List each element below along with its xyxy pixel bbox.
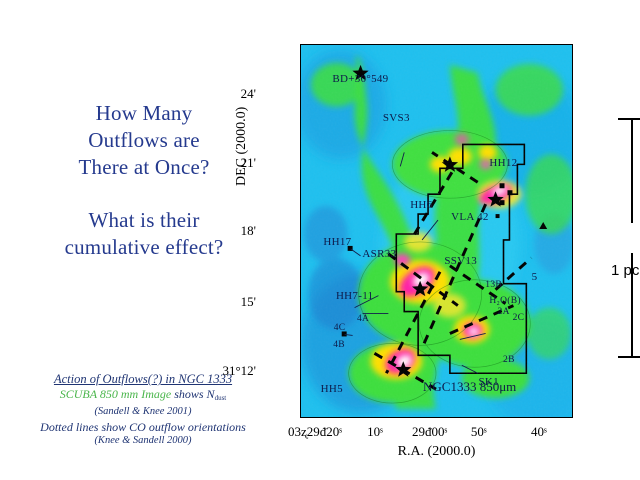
map-label-svs3: SVS3 <box>383 112 410 124</box>
ra-axis-label: R.A. (2000.0) <box>300 444 573 460</box>
map-label-asr33: ASR33 <box>362 248 396 260</box>
scale-bar-top-cap <box>618 118 640 120</box>
slide: How Many Outflows are There at Once? Wha… <box>0 0 640 480</box>
caption-dotted-lines-text: Dotted lines <box>40 420 101 434</box>
map-label-2c: 2C <box>513 313 525 323</box>
caption-line-2: SCUBA 850 mm Image shows Ndust <box>14 387 272 406</box>
dec-tick-0: 24' <box>196 86 256 102</box>
dec-tick-3: 15' <box>196 294 256 310</box>
map-label-4a: 4A <box>357 314 369 324</box>
dec-axis-label: DEC (2000.0) <box>234 107 250 186</box>
figure-caption-block: Action of Outflows(?) in NGC 1333 SCUBA … <box>14 372 272 449</box>
map-label-2b: 2B <box>503 355 515 365</box>
scale-bar-label: 1 pc <box>605 262 640 279</box>
caption-line-3: (Sandell & Knee 2001) <box>14 405 272 420</box>
map-label-vla42: VLA 42 <box>451 211 489 223</box>
title-line-2: Outflows are <box>18 127 270 154</box>
map-label-bd30549: BD+30°549 <box>332 73 388 85</box>
submillimetre-emission-map <box>301 45 572 417</box>
scale-bar <box>605 118 640 358</box>
map-label-4b: 4B <box>333 340 345 350</box>
map-label-4c: 4C <box>334 323 346 333</box>
map-label-hh6: HH6 <box>410 199 432 211</box>
caption-shows-text: shows N <box>171 387 214 401</box>
map-label-hh5: HH5 <box>321 383 343 395</box>
dec-tick-2: 18' <box>196 223 256 239</box>
sky-map-plot: BD+30°549SVS3HH12HH6VLA 42HH17ASR33SSV13… <box>300 44 573 418</box>
map-label-13b: 13B <box>485 280 502 290</box>
title-line-1: How Many <box>18 100 270 127</box>
map-label-hh7-11: HH7-11 <box>336 290 373 302</box>
dec-tick-4: 31°12' <box>196 363 256 379</box>
map-label-h2ob: H₂O(B) <box>489 296 521 306</box>
dec-tick-1: 21' <box>196 155 256 171</box>
map-label-star5: 5 <box>532 271 538 283</box>
scale-bar-label-gap <box>621 223 640 253</box>
scale-bar-bottom-cap <box>618 356 640 358</box>
caption-scuba-text: SCUBA 850 mm Image <box>60 387 171 401</box>
map-label-ssv13: SSV13 <box>444 255 477 267</box>
caption-dust-subscript: dust <box>215 394 227 402</box>
map-label-hh12: HH12 <box>489 157 517 169</box>
caption-line-5: (Knee & Sandell 2000) <box>14 434 272 449</box>
figure-corner-label: NGC1333 850μm <box>423 379 516 395</box>
ngc1333-figure: DEC (2000.0) R.A. (2000.0) <box>248 36 588 480</box>
caption-line-4: Dotted lines show CO outflow orientation… <box>14 420 272 435</box>
caption-co-outflow-text: show CO outflow orientations <box>101 420 245 434</box>
map-label-2a: 2A <box>498 307 510 317</box>
ra-tick-4: 40ˢ <box>504 424 574 440</box>
map-label-hh17: HH17 <box>323 236 351 248</box>
